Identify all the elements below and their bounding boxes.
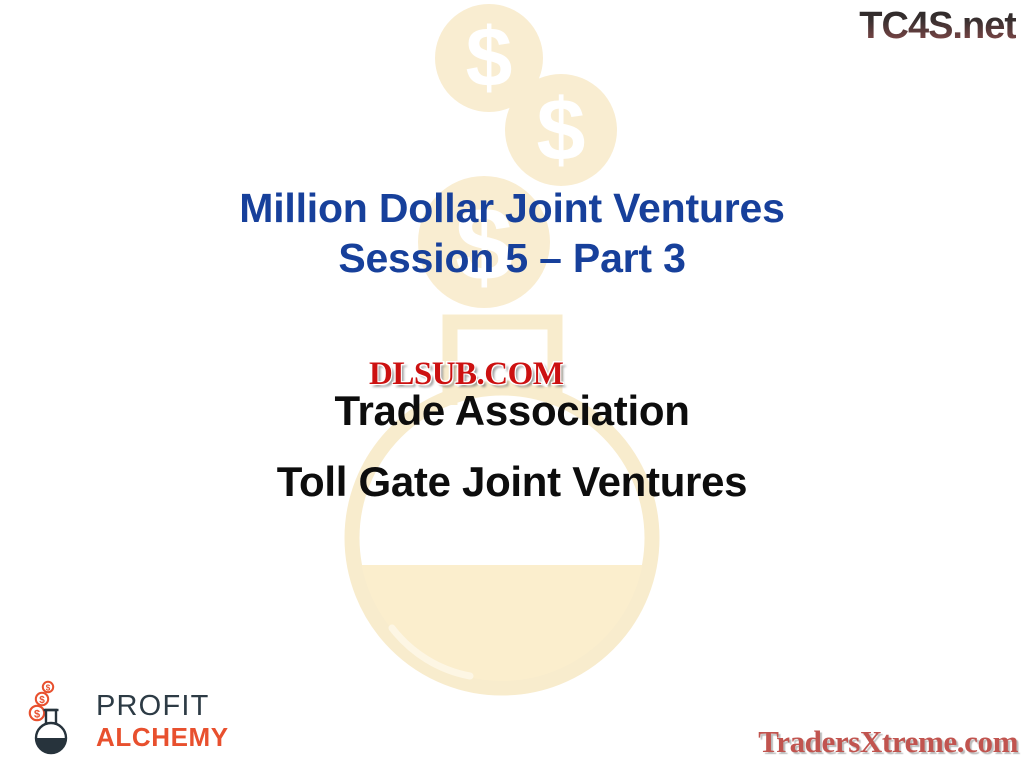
background-coin-1: $	[435, 4, 543, 112]
subtitle: Trade Association Toll Gate Joint Ventur…	[0, 375, 1024, 517]
slide-canvas: $ $ $ Million Dollar Joint Ven	[0, 0, 1024, 768]
svg-text:$: $	[466, 10, 513, 104]
tradersxtreme-watermark: TradersXtreme.com	[758, 724, 1018, 760]
brand-word-alchemy: ALCHEMY	[96, 724, 229, 750]
logo-flask	[36, 710, 68, 756]
profit-alchemy-wordmark: PROFIT ALCHEMY	[96, 692, 229, 756]
logo-coin-small-1: $	[30, 706, 44, 721]
logo-coin-small-3: $	[43, 682, 53, 693]
logo-coin-small-2: $	[36, 693, 48, 706]
tc4s-watermark: TC4S.net	[859, 4, 1016, 48]
title-line-1: Million Dollar Joint Ventures	[0, 183, 1024, 233]
brand-word-profit: PROFIT	[96, 692, 210, 721]
svg-text:$: $	[46, 684, 51, 693]
subtitle-line-2: Toll Gate Joint Ventures	[0, 446, 1024, 517]
dlsub-watermark: DLSUB.COM	[369, 358, 563, 391]
svg-text:$: $	[39, 695, 45, 706]
flask-with-coins-icon: $ $ $	[28, 680, 88, 756]
svg-text:$: $	[34, 709, 40, 721]
profit-alchemy-logo: $ $ $ PROFIT ALCHEMY	[28, 680, 229, 756]
svg-text:$: $	[537, 80, 586, 179]
page-title: Million Dollar Joint Ventures Session 5 …	[0, 183, 1024, 283]
background-coin-2: $	[505, 74, 617, 186]
title-line-2: Session 5 – Part 3	[0, 233, 1024, 283]
